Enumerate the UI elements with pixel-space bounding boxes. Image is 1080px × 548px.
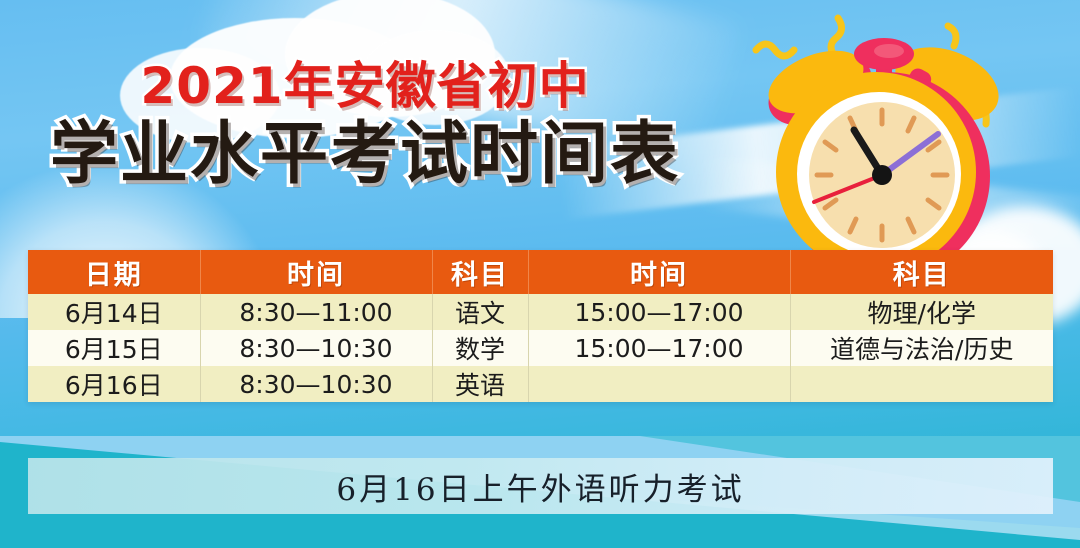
cell-morning-time: 8:30—10:30: [200, 366, 432, 402]
cell-morning-time: 8:30—11:00: [200, 294, 432, 330]
table-row: 6月15日 8:30—10:30 数学 15:00—17:00 道德与法治/历史: [28, 330, 1053, 366]
cell-morning-subject: 数学: [432, 330, 528, 366]
cell-date: 6月15日: [28, 330, 200, 366]
exam-schedule-poster: 2021年安徽省初中 学业水平考试时间表: [0, 0, 1080, 548]
header-morning-time: 时间: [200, 250, 432, 294]
header-date: 日期: [28, 250, 200, 294]
header-afternoon-subject: 科目: [790, 250, 1053, 294]
cell-afternoon-subject: 道德与法治/历史: [790, 330, 1053, 366]
cell-afternoon-time: 15:00—17:00: [528, 330, 790, 366]
poster-title: 2021年安徽省初中 学业水平考试时间表: [0, 60, 730, 193]
title-line-main: 学业水平考试时间表: [0, 117, 730, 193]
table-header-row: 日期 时间 科目 时间 科目: [28, 250, 1053, 294]
clock-center-pin: [872, 165, 892, 185]
cell-morning-subject: 语文: [432, 294, 528, 330]
cell-afternoon-time: [528, 366, 790, 402]
table-row: 6月14日 8:30—11:00 语文 15:00—17:00 物理/化学: [28, 294, 1053, 330]
alarm-clock-illustration: [742, 6, 1032, 268]
exam-schedule-table: 日期 时间 科目 时间 科目 6月14日 8:30—11:00 语文 15:00…: [28, 250, 1053, 402]
cell-morning-subject: 英语: [432, 366, 528, 402]
cell-date: 6月16日: [28, 366, 200, 402]
alarm-clock-icon: [742, 6, 1032, 268]
header-morning-subject: 科目: [432, 250, 528, 294]
cell-date: 6月14日: [28, 294, 200, 330]
cell-morning-time: 8:30—10:30: [200, 330, 432, 366]
title-line-year: 2021年安徽省初中: [0, 60, 730, 113]
footnote-text: 6月16日上午外语听力考试: [336, 464, 744, 509]
table-row: 6月16日 8:30—10:30 英语: [28, 366, 1053, 402]
cell-afternoon-subject: 物理/化学: [790, 294, 1053, 330]
header-afternoon-time: 时间: [528, 250, 790, 294]
cell-afternoon-subject: [790, 366, 1053, 402]
cell-afternoon-time: 15:00—17:00: [528, 294, 790, 330]
footnote-band: 6月16日上午外语听力考试: [28, 458, 1053, 514]
